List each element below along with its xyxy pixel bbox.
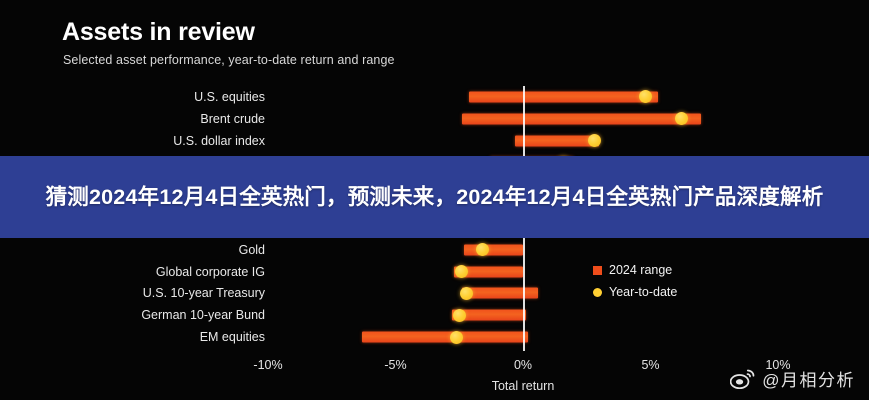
ytd-marker[interactable] xyxy=(450,331,463,344)
range-bar[interactable] xyxy=(362,332,528,343)
chart-row-label: U.S. 10-year Treasury xyxy=(143,286,265,300)
ytd-marker[interactable] xyxy=(588,134,601,147)
weibo-icon xyxy=(730,368,756,390)
ytd-marker[interactable] xyxy=(453,309,466,322)
chart-row: EM equities xyxy=(0,326,869,348)
overlay-caption-text: 猜测2024年12月4日全英热门，预测未来，2024年12月4日全英热门产品深度… xyxy=(46,183,824,211)
chart-row-label: Global corporate IG xyxy=(156,265,265,279)
range-bar[interactable] xyxy=(515,135,599,146)
range-bar[interactable] xyxy=(462,288,539,299)
overlay-caption-band: 猜测2024年12月4日全英热门，预测未来，2024年12月4日全英热门产品深度… xyxy=(0,156,869,238)
x-axis-tick: 5% xyxy=(641,358,659,372)
legend-label-range: 2024 range xyxy=(609,263,672,277)
chart-row-label: Brent crude xyxy=(200,112,265,126)
x-axis-tick: 0% xyxy=(514,358,532,372)
range-bar[interactable] xyxy=(464,244,523,255)
x-axis-tick: -5% xyxy=(384,358,406,372)
chart-row-label: German 10-year Bund xyxy=(141,308,265,322)
x-axis-title: Total return xyxy=(492,379,555,393)
chart-row-label: Gold xyxy=(239,243,265,257)
chart-card: Assets in review Selected asset performa… xyxy=(0,0,869,400)
square-marker-icon xyxy=(593,266,602,275)
chart-row: Gold xyxy=(0,239,869,261)
ytd-marker[interactable] xyxy=(476,243,489,256)
chart-row-label: U.S. equities xyxy=(194,90,265,104)
page-title: Assets in review xyxy=(62,18,255,47)
range-bar[interactable] xyxy=(462,113,702,124)
chart-row: U.S. dollar index xyxy=(0,130,869,152)
legend-item-ytd[interactable]: Year-to-date xyxy=(593,281,677,303)
chart-legend: 2024 range Year-to-date xyxy=(593,259,677,303)
chart-row: U.S. equities xyxy=(0,86,869,108)
chart-row: U.S. 10-year Treasury xyxy=(0,283,869,305)
chart-row: German 10-year Bund xyxy=(0,304,869,326)
circle-marker-icon xyxy=(593,288,602,297)
ytd-marker[interactable] xyxy=(675,112,688,125)
chart-row: Brent crude xyxy=(0,108,869,130)
watermark-handle: @月相分析 xyxy=(762,366,855,391)
legend-label-ytd: Year-to-date xyxy=(609,285,677,299)
chart-row-label: EM equities xyxy=(200,330,265,344)
page-subtitle: Selected asset performance, year-to-date… xyxy=(63,53,395,67)
watermark: @月相分析 xyxy=(730,366,855,391)
range-bar[interactable] xyxy=(469,91,658,102)
chart-row: Global corporate IG xyxy=(0,261,869,283)
x-axis-tick: -10% xyxy=(253,358,282,372)
legend-item-range[interactable]: 2024 range xyxy=(593,259,677,281)
chart-row-label: U.S. dollar index xyxy=(173,134,265,148)
